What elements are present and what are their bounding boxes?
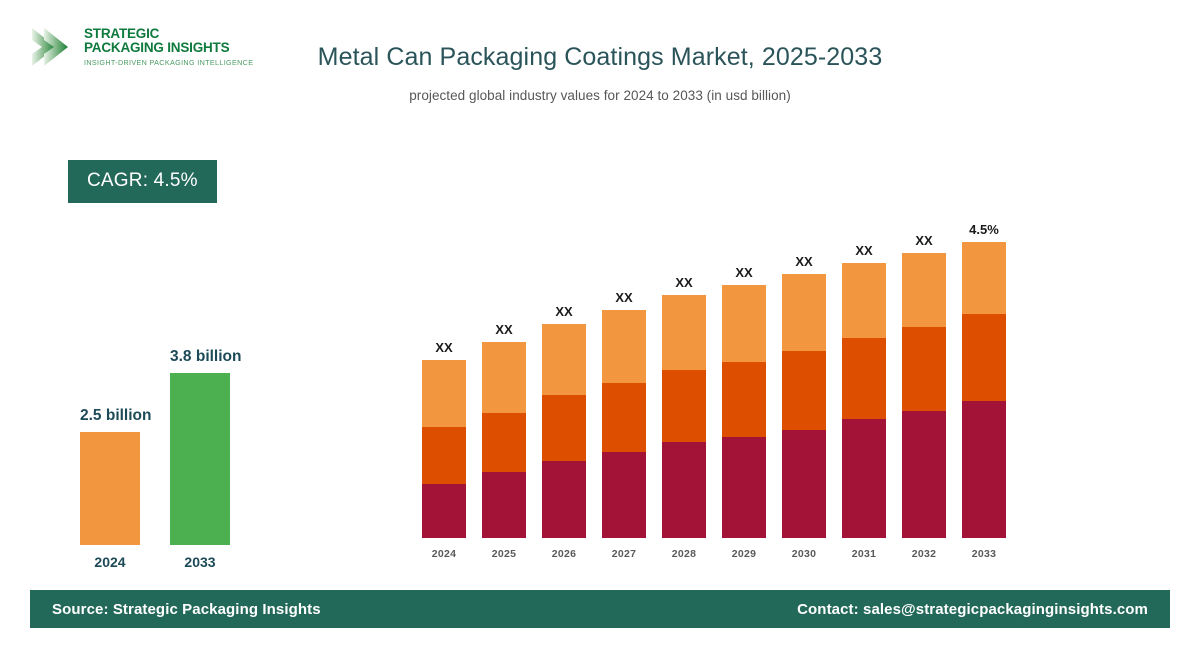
- stacked-bar: [662, 295, 706, 538]
- stacked-bar-segment-segment-middle: [962, 314, 1006, 401]
- stacked-bar-segment-segment-bottom: [662, 442, 706, 538]
- logo-tagline: INSIGHT-DRIVEN PACKAGING INTELLIGENCE: [84, 59, 253, 67]
- stacked-bar: [482, 342, 526, 538]
- stacked-bar-segment-segment-bottom: [962, 401, 1006, 538]
- stacked-bar-value-label: XX: [894, 233, 954, 248]
- stacked-bar-value-label: XX: [714, 265, 774, 280]
- stacked-bar-segment-segment-bottom: [722, 437, 766, 538]
- mini-bar-group: 3.8 billion2033: [170, 348, 230, 570]
- mini-bar-value-label: 2.5 billion: [80, 407, 140, 425]
- stacked-bar-segment-segment-bottom: [602, 452, 646, 538]
- stacked-bar-segment-segment-top: [902, 253, 946, 327]
- stacked-bar-segment-segment-top: [722, 285, 766, 362]
- stacked-bar-segment-segment-middle: [902, 327, 946, 411]
- stacked-bar: [842, 263, 886, 538]
- brand-logo: STRATEGIC PACKAGING INSIGHTS INSIGHT-DRI…: [30, 16, 270, 78]
- footer-source: Source: Strategic Packaging Insights: [52, 601, 321, 618]
- stacked-bar-segment-segment-top: [782, 274, 826, 351]
- brand-wordmark: STRATEGIC PACKAGING INSIGHTS INSIGHT-DRI…: [84, 27, 253, 67]
- stacked-bar-segment-segment-middle: [722, 362, 766, 437]
- title-block: Metal Can Packaging Coatings Market, 202…: [300, 40, 900, 103]
- stacked-bar-segment-segment-middle: [542, 395, 586, 461]
- stacked-bar: [542, 324, 586, 538]
- stacked-bar-segment-segment-top: [422, 360, 466, 427]
- stacked-bar-segment-segment-bottom: [482, 472, 526, 538]
- stacked-bar-segment-segment-bottom: [542, 461, 586, 538]
- page-title: Metal Can Packaging Coatings Market, 202…: [300, 40, 900, 74]
- stacked-bar-segment-segment-middle: [482, 413, 526, 473]
- stacked-bar-segment-segment-bottom: [782, 430, 826, 538]
- stacked-bar-value-label: 4.5%: [954, 222, 1014, 237]
- stacked-bar-value-label: XX: [774, 254, 834, 269]
- stacked-bar-segment-segment-bottom: [842, 419, 886, 538]
- stacked-bar: [902, 253, 946, 538]
- stacked-bar-segment-segment-bottom: [902, 411, 946, 538]
- stacked-bar: [962, 242, 1006, 538]
- footer-bar: Source: Strategic Packaging Insights Con…: [30, 590, 1170, 628]
- stacked-bar-segment-segment-middle: [782, 351, 826, 429]
- mini-bar-category-label: 2033: [170, 554, 230, 570]
- stacked-bar-value-label: XX: [834, 243, 894, 258]
- stacked-bar-category-label: 2031: [834, 548, 894, 560]
- stacked-bar-value-label: XX: [474, 322, 534, 337]
- stacked-bar-segment-segment-top: [542, 324, 586, 395]
- cagr-badge: CAGR: 4.5%: [68, 160, 217, 203]
- stacked-bar-segment-segment-bottom: [422, 484, 466, 538]
- page-subtitle: projected global industry values for 202…: [300, 88, 900, 103]
- stacked-bar: [782, 274, 826, 538]
- stacked-bar-category-label: 2027: [594, 548, 654, 560]
- stacked-bar-segment-segment-middle: [842, 338, 886, 419]
- logo-line-1: STRATEGIC: [84, 27, 253, 41]
- stacked-bar: [422, 360, 466, 538]
- stacked-bar: [722, 285, 766, 538]
- stacked-bar-category-label: 2026: [534, 548, 594, 560]
- stacked-bar-segment-segment-top: [482, 342, 526, 413]
- mini-bar-value-label: 3.8 billion: [170, 348, 230, 366]
- stacked-bar-category-label: 2028: [654, 548, 714, 560]
- stacked-bar-segment-segment-top: [842, 263, 886, 338]
- stacked-bar-value-label: XX: [414, 340, 474, 355]
- footer-contact: Contact: sales@strategicpackaginginsight…: [797, 601, 1148, 618]
- stacked-bar-category-label: 2030: [774, 548, 834, 560]
- chevron-logo-icon: [30, 25, 76, 69]
- stacked-bar: [602, 310, 646, 538]
- stacked-bar-category-label: 2033: [954, 548, 1014, 560]
- stacked-bar-segment-segment-top: [602, 310, 646, 383]
- stacked-bar-value-label: XX: [594, 290, 654, 305]
- stacked-bar-segment-segment-top: [962, 242, 1006, 314]
- stacked-bar-category-label: 2024: [414, 548, 474, 560]
- mini-bar-group: 2.5 billion2024: [80, 407, 140, 570]
- endpoint-comparison-chart: 2.5 billion20243.8 billion2033: [60, 300, 270, 570]
- mini-bar: [80, 432, 140, 545]
- stacked-bar-value-label: XX: [534, 304, 594, 319]
- stacked-bar-category-label: 2032: [894, 548, 954, 560]
- stacked-bar-segment-segment-middle: [662, 370, 706, 442]
- stacked-bar-segment-segment-middle: [422, 427, 466, 484]
- mini-bar: [170, 373, 230, 545]
- stacked-bar-category-label: 2029: [714, 548, 774, 560]
- stacked-bar-category-label: 2025: [474, 548, 534, 560]
- mini-bar-category-label: 2024: [80, 554, 140, 570]
- stacked-bar-segment-segment-top: [662, 295, 706, 370]
- stacked-forecast-chart: XX2024XX2025XX2026XX2027XX2028XX2029XX20…: [412, 205, 1012, 560]
- stacked-bar-segment-segment-middle: [602, 383, 646, 451]
- logo-line-2: PACKAGING INSIGHTS: [84, 41, 253, 55]
- stacked-bar-value-label: XX: [654, 275, 714, 290]
